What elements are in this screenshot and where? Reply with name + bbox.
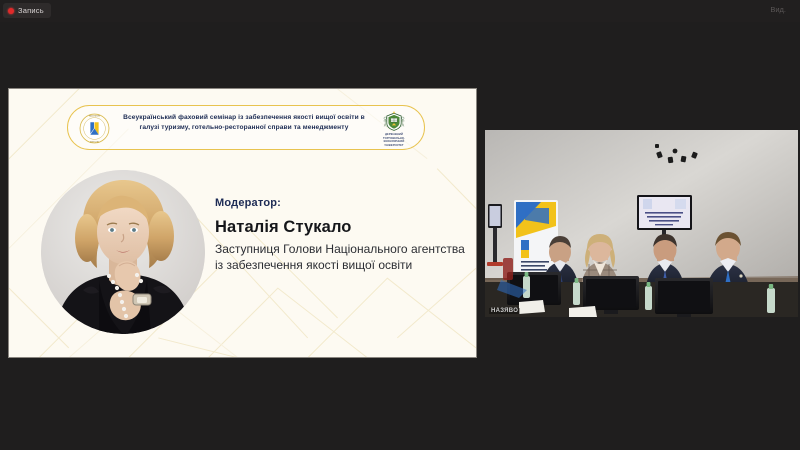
view-menu-button[interactable]: Вид. — [770, 5, 786, 14]
moderator-description: Заступниця Голови Національного агентств… — [215, 242, 465, 274]
shared-screen-slide[interactable]: НАЦІОНАЛЬНЕ АГЕНТСТВО Всеукраїнський фах… — [8, 88, 477, 358]
university-coat-of-arms-icon — [381, 111, 407, 132]
moderator-role-label: Модератор: — [215, 197, 465, 209]
moderator-name: Наталія Стукало — [215, 218, 465, 237]
recording-indicator[interactable]: Запись — [3, 3, 51, 18]
moderator-portrait-photo — [41, 170, 205, 334]
top-bar: Запись Вид. — [0, 0, 800, 22]
naqa-logo-icon: НАЦІОНАЛЬНЕ АГЕНТСТВО — [79, 113, 110, 144]
video-watermark: НАЗЯВО — [489, 308, 520, 314]
meeting-window: Запись Вид. — [0, 0, 800, 450]
university-logo-group: ДЕРЖАВНИЙ ТОРГОВЕЛЬНО-ЕКОНОМІЧНИЙ УНІВЕР… — [374, 111, 414, 147]
record-dot-icon — [8, 8, 14, 14]
university-caption: ДЕРЖАВНИЙ ТОРГОВЕЛЬНО-ЕКОНОМІЧНИЙ УНІВЕР… — [374, 133, 414, 147]
moderator-info-block: Модератор: Наталія Стукало Заступниця Го… — [215, 197, 465, 274]
slide-header-banner: НАЦІОНАЛЬНЕ АГЕНТСТВО Всеукраїнський фах… — [67, 105, 425, 150]
portrait-illustration — [41, 170, 205, 334]
conference-room-video-feed[interactable]: НАЗЯВО — [485, 130, 798, 317]
recording-label: Запись — [18, 6, 44, 15]
slide-header-title: Всеукраїнський фаховий семінар із забезп… — [120, 113, 368, 133]
video-frame-content — [485, 130, 798, 317]
